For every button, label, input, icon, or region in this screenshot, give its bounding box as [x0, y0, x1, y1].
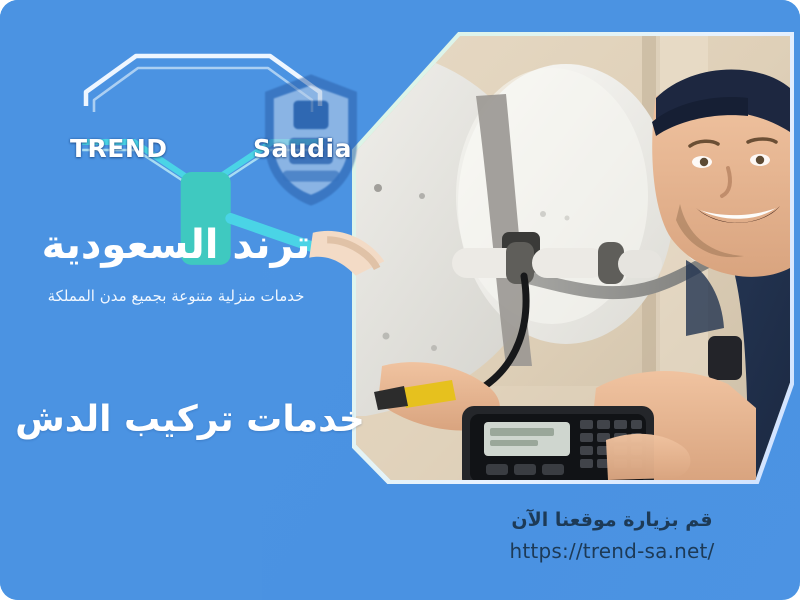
logo-word-trend: TREND [70, 134, 168, 163]
page-title: خدمات تركيب الدش [0, 398, 380, 441]
call-to-action: قم بزيارة موقعنا الآن https://trend-sa.n… [462, 508, 762, 563]
brand-tagline-arabic: خدمات منزلية متنوعة بجميع مدن المملكة [0, 286, 352, 307]
website-url-link[interactable]: https://trend-sa.net/ [462, 539, 762, 563]
brand-name-arabic: ترند السعودية [0, 222, 352, 268]
logo-word-saudia: Saudia [253, 134, 352, 163]
brand-logo: TREND Saudia [78, 48, 328, 188]
cta-title: قم بزيارة موقعنا الآن [462, 508, 762, 533]
promo-banner: TREND Saudia ترند السعودية خدمات منزلية … [0, 0, 800, 600]
